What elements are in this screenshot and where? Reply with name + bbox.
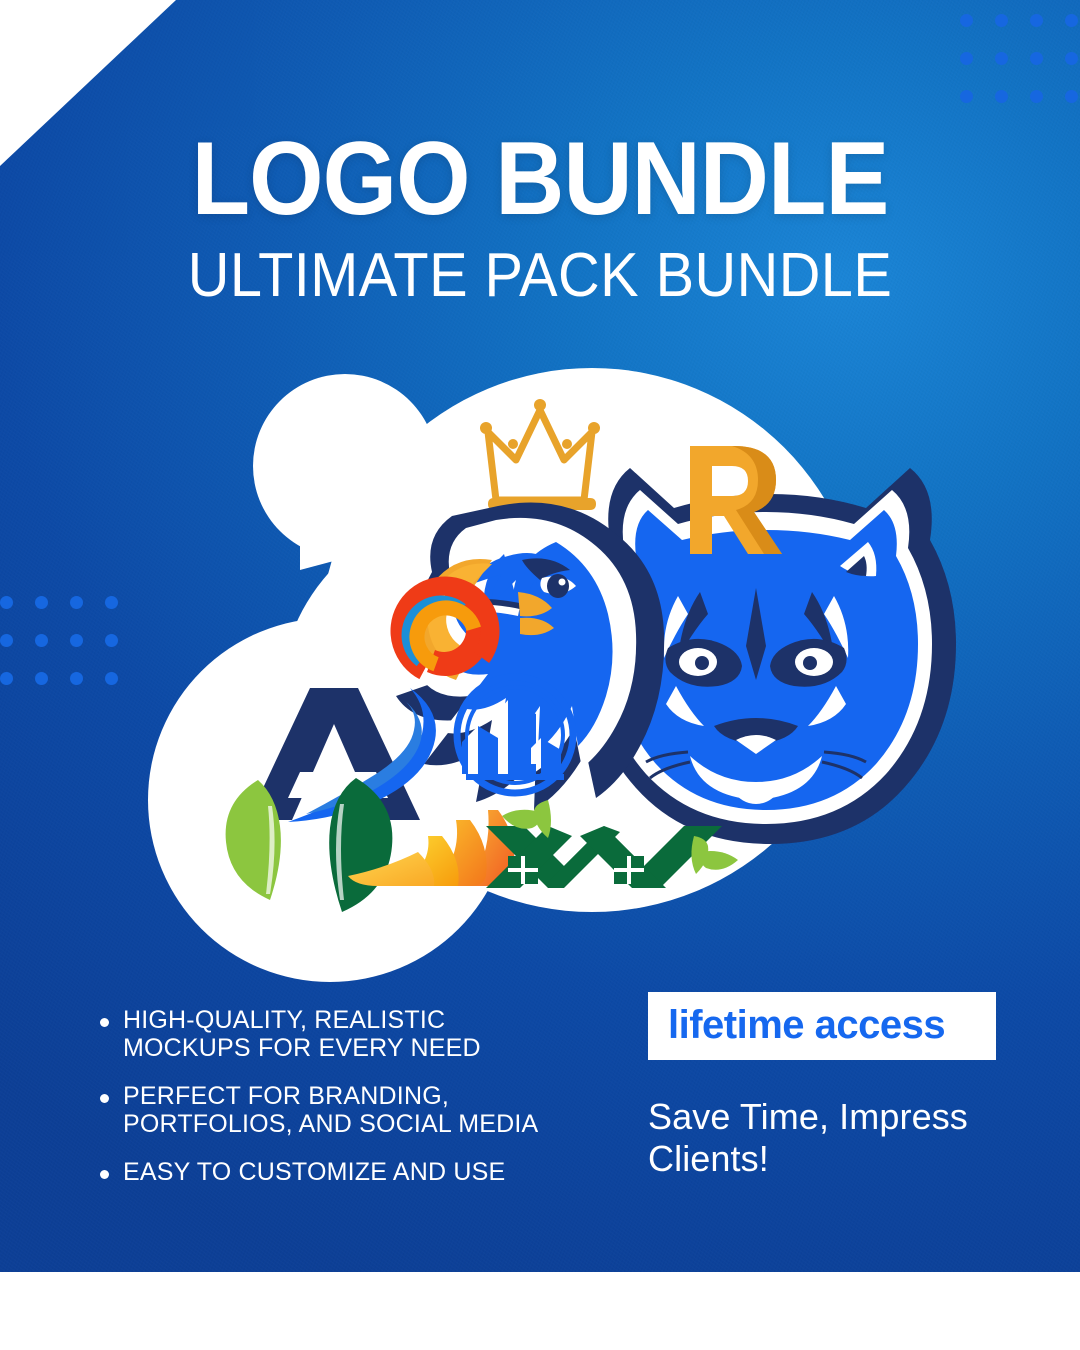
offer-block: lifetime access Save Time, Impress Clien… [648,992,996,1180]
feature-list: HIGH-QUALITY, REALISTIC MOCKUPS FOR EVER… [100,1006,570,1206]
headline-block: LOGO BUNDLE ULTIMATE PACK BUNDLE [0,130,1080,308]
bullet-dot-icon [100,1094,109,1103]
feature-text: EASY TO CUSTOMIZE AND USE [123,1158,505,1186]
lifetime-access-badge: lifetime access [648,992,996,1060]
feature-text: PERFECT FOR BRANDING, PORTFOLIOS, AND SO… [123,1082,570,1138]
bullet-dot-icon [100,1018,109,1027]
list-item: PERFECT FOR BRANDING, PORTFOLIOS, AND SO… [100,1082,570,1138]
bullet-dot-icon [100,1170,109,1179]
page-title: LOGO BUNDLE [43,130,1037,229]
offer-tagline: Save Time, Impress Clients! [648,1096,996,1180]
list-item: EASY TO CUSTOMIZE AND USE [100,1158,570,1186]
poster-canvas: LOGO BUNDLE ULTIMATE PACK BUNDLE [0,0,1080,1350]
crown-icon [488,410,592,500]
badge-label: lifetime access [668,1003,945,1047]
list-item: HIGH-QUALITY, REALISTIC MOCKUPS FOR EVER… [100,1006,570,1062]
feature-text: HIGH-QUALITY, REALISTIC MOCKUPS FOR EVER… [123,1006,570,1062]
page-subtitle: ULTIMATE PACK BUNDLE [38,243,1042,308]
